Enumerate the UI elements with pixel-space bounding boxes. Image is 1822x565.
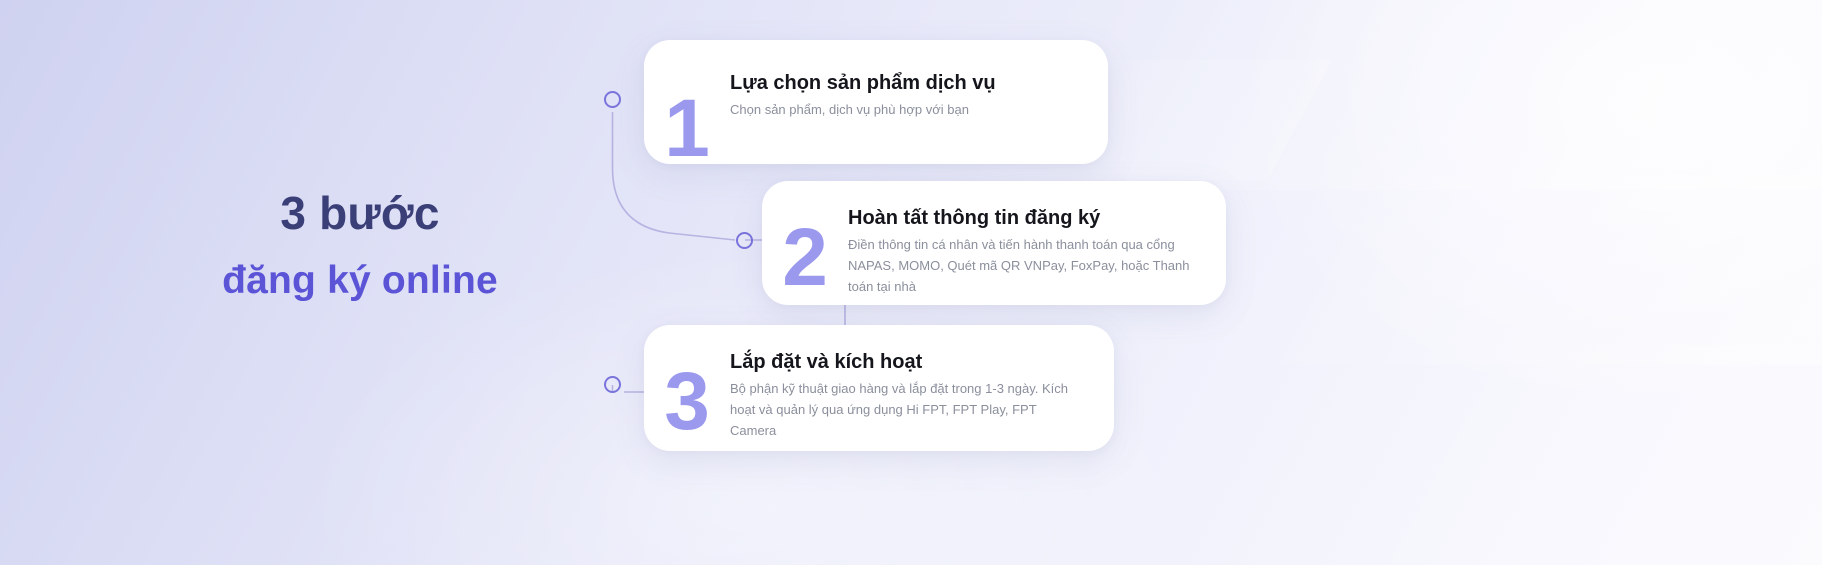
- step-node-3[interactable]: [604, 376, 621, 393]
- step-content-2: Hoàn tất thông tin đăng ký Điền thông ti…: [848, 181, 1226, 297]
- step-title-1: Lựa chọn sản phẩm dịch vụ: [730, 70, 1108, 96]
- step-number-2: 2: [762, 181, 848, 299]
- step-card-1[interactable]: 1 Lựa chọn sản phẩm dịch vụ Chọn sản phẩ…: [644, 40, 1108, 164]
- step-number-3: 3: [644, 325, 730, 443]
- step-description-3: Bộ phận kỹ thuật giao hàng và lắp đặt tr…: [730, 378, 1082, 441]
- step-description-1: Chọn sản phẩm, dịch vụ phù hợp với bạn: [730, 99, 1070, 120]
- step-description-2: Điền thông tin cá nhân và tiến hành than…: [848, 234, 1200, 297]
- section-headline: 3 bước đăng ký online: [120, 186, 600, 304]
- background-glow-right: [1212, 0, 1822, 440]
- step-content-3: Lắp đặt và kích hoạt Bộ phận kỹ thuật gi…: [730, 325, 1114, 441]
- step-number-1: 1: [644, 40, 730, 170]
- step-title-3: Lắp đặt và kích hoạt: [730, 349, 1114, 375]
- step-node-2[interactable]: [736, 232, 753, 249]
- step-node-1[interactable]: [604, 91, 621, 108]
- step-card-2[interactable]: 2 Hoàn tất thông tin đăng ký Điền thông …: [762, 181, 1226, 305]
- step-content-1: Lựa chọn sản phẩm dịch vụ Chọn sản phẩm,…: [730, 40, 1108, 120]
- step-title-2: Hoàn tất thông tin đăng ký: [848, 205, 1226, 231]
- step-card-3[interactable]: 3 Lắp đặt và kích hoạt Bộ phận kỹ thuật …: [644, 325, 1114, 451]
- headline-line-accent: đăng ký online: [120, 258, 600, 304]
- headline-line-primary: 3 bước: [120, 186, 600, 240]
